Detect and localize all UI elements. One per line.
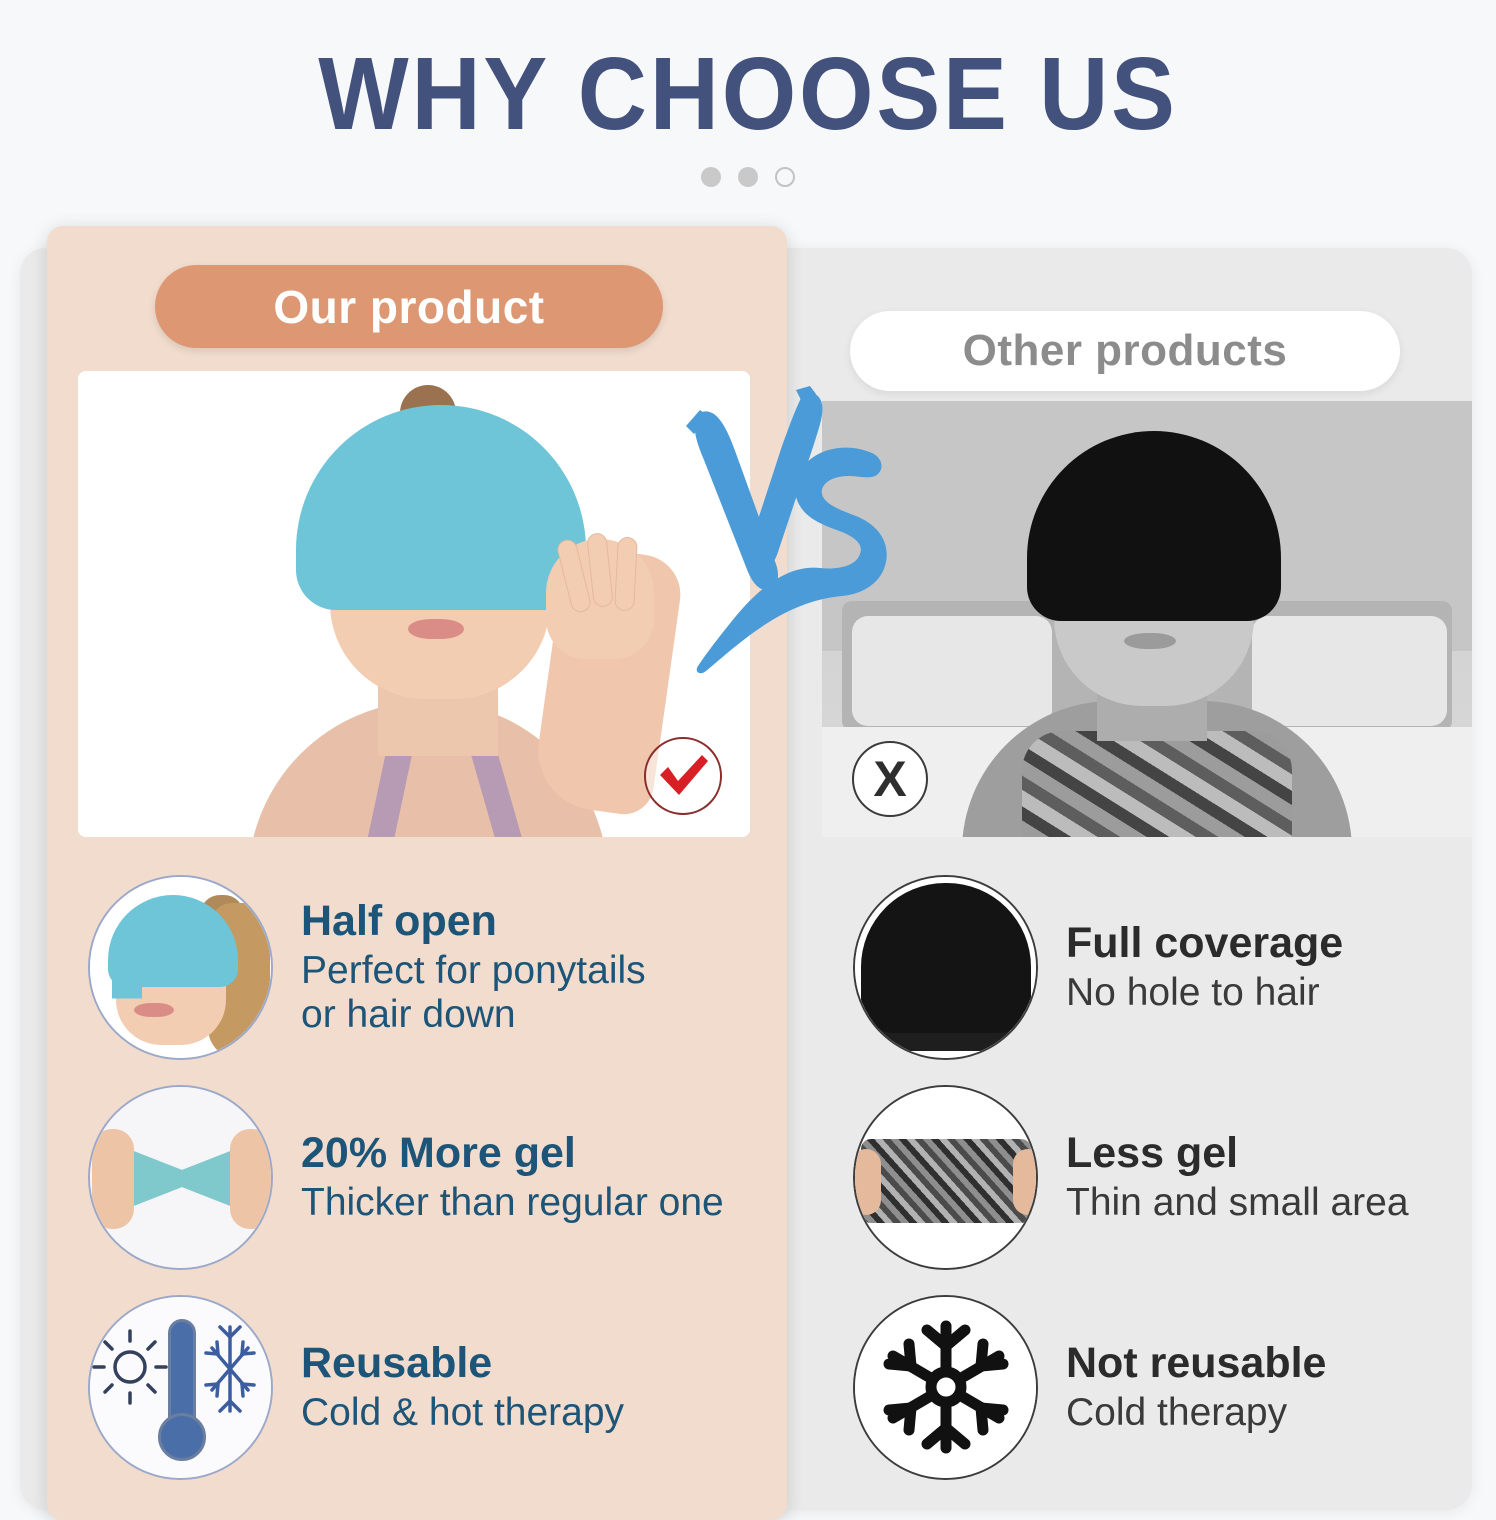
- feature-subtitle: No hole to hair: [1066, 971, 1343, 1015]
- our-product-pill: Our product: [155, 265, 663, 348]
- our-product-features: Half open Perfect for ponytails or hair …: [88, 862, 748, 1492]
- stretched-teal-gel-icon: [88, 1085, 273, 1270]
- snowflake-icon: [853, 1295, 1038, 1480]
- feature-title: Half open: [301, 897, 646, 945]
- feature-row: Not reusable Cold therapy: [853, 1282, 1453, 1492]
- check-badge: [644, 737, 722, 815]
- feature-row: Less gel Thin and small area: [853, 1072, 1453, 1282]
- feature-title: 20% More gel: [301, 1129, 724, 1177]
- feature-text: Less gel Thin and small area: [1038, 1129, 1409, 1225]
- feature-row: Half open Perfect for ponytails or hair …: [88, 862, 748, 1072]
- black-cap-icon: [853, 875, 1038, 1060]
- feature-subtitle: Thicker than regular one: [301, 1181, 724, 1225]
- feature-title: Reusable: [301, 1339, 624, 1387]
- gray-gel-pack-icon: [853, 1085, 1038, 1270]
- feature-subtitle: Thin and small area: [1066, 1181, 1409, 1225]
- feature-text: Reusable Cold & hot therapy: [273, 1339, 624, 1435]
- feature-text: 20% More gel Thicker than regular one: [273, 1129, 724, 1225]
- half-open-cap-icon: [88, 875, 273, 1060]
- feature-text: Half open Perfect for ponytails or hair …: [273, 897, 646, 1037]
- feature-row: Reusable Cold & hot therapy: [88, 1282, 748, 1492]
- feature-row: Full coverage No hole to hair: [853, 862, 1453, 1072]
- feature-subtitle: Cold therapy: [1066, 1391, 1326, 1435]
- feature-title: Not reusable: [1066, 1339, 1326, 1387]
- feature-subtitle: Perfect for ponytails or hair down: [301, 949, 646, 1037]
- thermometer-icon: [88, 1295, 273, 1480]
- feature-text: Full coverage No hole to hair: [1038, 919, 1343, 1015]
- feature-subtitle: Cold & hot therapy: [301, 1391, 624, 1435]
- other-products-pill: Other products: [850, 311, 1400, 391]
- feature-row: 20% More gel Thicker than regular one: [88, 1072, 748, 1282]
- versus-brush-icon: [678, 386, 893, 676]
- comparison-panels: Our product Other products: [0, 0, 1496, 1500]
- feature-title: Less gel: [1066, 1129, 1409, 1177]
- feature-title: Full coverage: [1066, 919, 1343, 967]
- feature-text: Not reusable Cold therapy: [1038, 1339, 1326, 1435]
- x-badge: X: [852, 741, 928, 817]
- other-products-features: Full coverage No hole to hair Less gel T…: [853, 862, 1453, 1492]
